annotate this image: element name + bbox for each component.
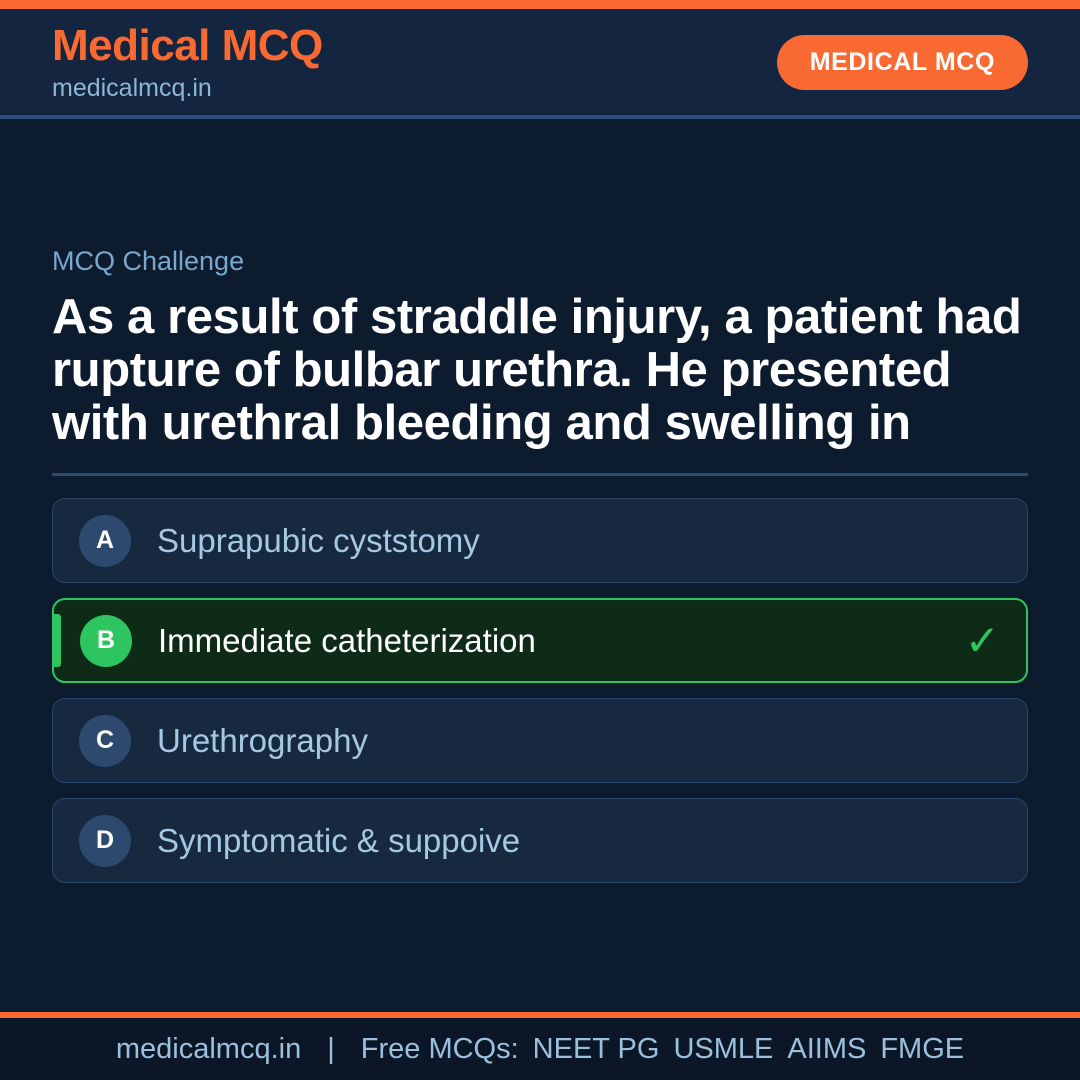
footer-exam-fmge[interactable]: FMGE bbox=[880, 1033, 964, 1066]
footer-separator: | bbox=[327, 1033, 335, 1066]
footer-label: Free MCQs: bbox=[361, 1033, 519, 1066]
page-header: Medical MCQ medicalmcq.in MEDICAL MCQ bbox=[0, 9, 1080, 119]
correct-accent-bar bbox=[54, 614, 61, 667]
option-d[interactable]: D Symptomatic & suppoive bbox=[52, 798, 1028, 883]
option-label: Symptomatic & suppoive bbox=[157, 822, 520, 860]
brand-subtitle: medicalmcq.in bbox=[52, 76, 323, 101]
main-content: MCQ Challenge As a result of straddle in… bbox=[0, 119, 1080, 1012]
question-text: As a result of straddle injury, a patien… bbox=[52, 291, 1028, 450]
kicker-label: MCQ Challenge bbox=[52, 247, 1028, 277]
footer-exam-usmle[interactable]: USMLE bbox=[673, 1033, 773, 1066]
top-accent-rule bbox=[0, 0, 1080, 9]
brand: Medical MCQ medicalmcq.in bbox=[52, 24, 323, 101]
footer-site-link[interactable]: medicalmcq.in bbox=[116, 1033, 301, 1066]
footer-exam-neet-pg[interactable]: NEET PG bbox=[533, 1033, 660, 1066]
option-b[interactable]: B Immediate catheterization ✓ bbox=[52, 598, 1028, 683]
mcq-card: Medical MCQ medicalmcq.in MEDICAL MCQ MC… bbox=[0, 0, 1080, 1080]
option-letter-badge: B bbox=[80, 615, 132, 667]
option-letter-badge: A bbox=[79, 515, 131, 567]
option-c[interactable]: C Urethrography bbox=[52, 698, 1028, 783]
option-letter-badge: D bbox=[79, 815, 131, 867]
brand-title: Medical MCQ bbox=[52, 24, 323, 68]
header-badge: MEDICAL MCQ bbox=[777, 35, 1028, 90]
option-a[interactable]: A Suprapubic cyststomy bbox=[52, 498, 1028, 583]
footer-exam-aiims[interactable]: AIIMS bbox=[787, 1033, 866, 1066]
options-list: A Suprapubic cyststomy B Immediate cathe… bbox=[52, 498, 1028, 883]
check-icon: ✓ bbox=[965, 620, 1000, 662]
question-divider bbox=[52, 473, 1028, 476]
option-letter-badge: C bbox=[79, 715, 131, 767]
option-label: Urethrography bbox=[157, 722, 368, 760]
option-label: Immediate catheterization bbox=[158, 622, 536, 660]
page-footer: medicalmcq.in | Free MCQs: NEET PG USMLE… bbox=[0, 1012, 1080, 1080]
option-label: Suprapubic cyststomy bbox=[157, 522, 480, 560]
footer-content: medicalmcq.in | Free MCQs: NEET PG USMLE… bbox=[116, 1033, 964, 1066]
